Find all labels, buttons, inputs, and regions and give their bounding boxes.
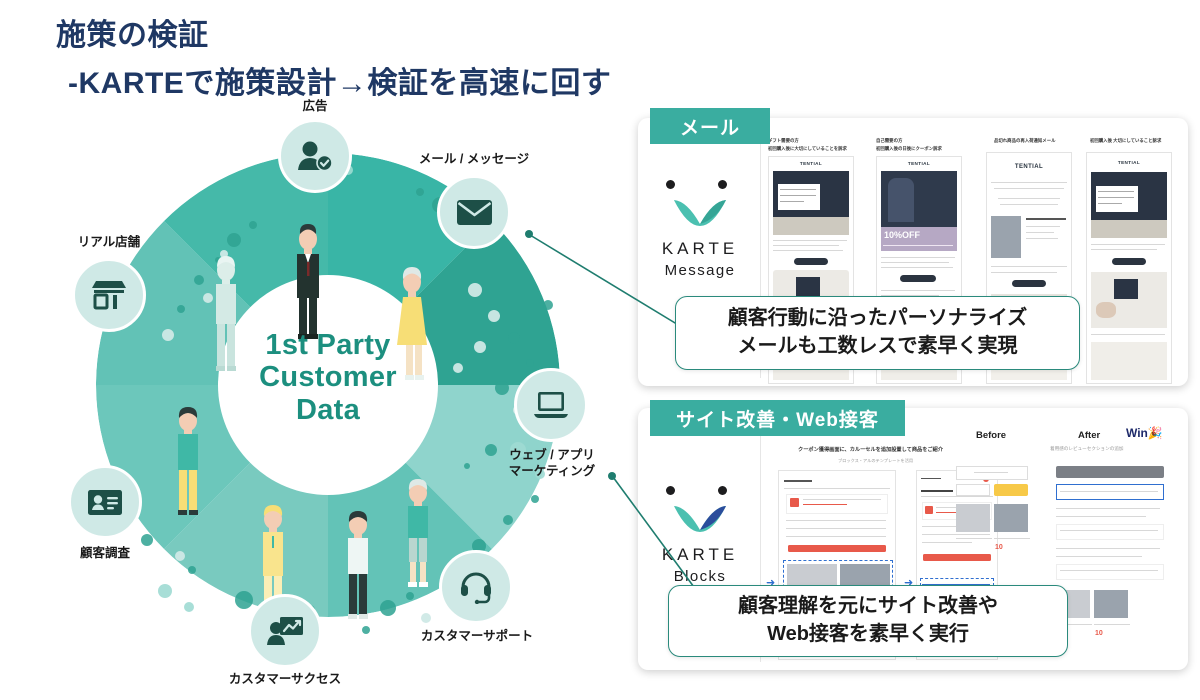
- mail-card-1-overlay: [778, 184, 820, 210]
- mail-card-2-brand: TENTIAL: [876, 161, 962, 166]
- win-badge: Win🎉: [1126, 426, 1163, 440]
- before-mock-cta[interactable]: [994, 484, 1028, 496]
- blocks-after-cta[interactable]: [923, 554, 991, 561]
- center-line-1: 1st Party: [213, 329, 443, 361]
- wheel-node-mail[interactable]: [437, 175, 511, 249]
- after-caption: 着用感のレビューセクションの追加: [1050, 446, 1124, 452]
- wheel-node-research[interactable]: [68, 465, 142, 539]
- wheel-label-research: 顧客調査: [68, 546, 142, 562]
- blocks-before-cta[interactable]: [788, 545, 886, 552]
- user-check-icon: [297, 140, 333, 172]
- karte-smile-icon: [672, 196, 728, 226]
- mail-card-1-caption-2: 初回購入後に大切にしていることを訴求: [768, 146, 847, 153]
- mail-card-3-cta[interactable]: [1012, 280, 1046, 287]
- after-mock-header: [1056, 466, 1164, 478]
- blocks-caption: クーポン獲得画面に、カルーセルを追加設置して商品をご紹介: [798, 446, 943, 453]
- id-card-icon: [87, 489, 123, 516]
- envelope-icon: [456, 199, 493, 226]
- storefront-icon: [91, 280, 127, 310]
- callout-blocks: 顧客理解を元にサイト改善や Web接客を素早く実行: [668, 585, 1068, 657]
- after-label: After: [1078, 430, 1100, 441]
- wheel-center-text: 1st Party Customer Data: [213, 329, 443, 426]
- wheel-node-web[interactable]: [514, 368, 588, 442]
- mail-card-4-cta[interactable]: [1112, 258, 1146, 265]
- mail-card-3-product-img: [991, 216, 1021, 258]
- callout-blocks-text: 顧客理解を元にサイト改善や Web接客を素早く実行: [738, 593, 998, 648]
- laptop-icon: [533, 390, 569, 420]
- page-title: 施策の検証: [56, 10, 209, 54]
- wheel-node-success[interactable]: [248, 594, 322, 668]
- wheel-label-ad: 広告: [278, 99, 352, 115]
- first-party-data-wheel: 1st Party Customer Data 広告 メール / メッセージ: [48, 110, 648, 690]
- wheel-label-mail: メール / メッセージ: [404, 152, 544, 168]
- mail-card-1-brand: TENTIAL: [768, 161, 854, 166]
- leader-line-mail: [520, 225, 700, 345]
- mail-card-2-offer: 10%OFF: [884, 231, 920, 240]
- callout-mail-text: 顧客行動に沿ったパーソナライズ メールも工数レスで素早く実現: [728, 305, 1027, 360]
- wheel-label-store: リアル店舗: [66, 235, 152, 251]
- before-label: Before: [976, 430, 1006, 441]
- center-line-3: Data: [213, 394, 443, 426]
- win-label: Win: [1126, 426, 1148, 440]
- mail-card-1-cta[interactable]: [794, 258, 828, 265]
- mail-card-2-caption-1: 自己需要の方: [876, 138, 902, 145]
- wheel-label-success: カスタマーサクセス: [212, 672, 358, 688]
- before-price: 10: [995, 544, 1003, 551]
- presentation-user-icon: [267, 616, 304, 646]
- mail-card-3-brand: TENTIAL: [986, 164, 1072, 170]
- page-subtitle: -KARTEで施策設計→検証を高速に回す: [68, 58, 611, 102]
- callout-mail: 顧客行動に沿ったパーソナライズ メールも工数レスで素早く実現: [675, 296, 1080, 370]
- karte-eyes-icon: [640, 180, 760, 192]
- headset-icon: [459, 571, 493, 604]
- wheel-node-ad[interactable]: [278, 119, 352, 193]
- slide-canvas: 施策の検証 -KARTEで施策設計→検証を高速に回す: [0, 0, 1200, 700]
- mail-card-4-caption-1: 初回購入後 大切にしていること訴求: [1090, 138, 1161, 145]
- wheel-node-store[interactable]: [72, 258, 146, 332]
- mail-card-1-caption-1: ギフト需要の方: [768, 138, 799, 145]
- center-line-2: Customer: [213, 361, 443, 393]
- party-popper-icon: 🎉: [1148, 426, 1163, 440]
- mail-card-1-photo-2: [773, 217, 849, 235]
- wheel-label-support: カスタマーサポート: [406, 629, 548, 645]
- mail-card-2-cta[interactable]: [900, 275, 936, 282]
- panel-mail-tab[interactable]: メール: [650, 108, 770, 144]
- mail-card-3-caption-1: 品切れ商品の再入荷通知メール: [994, 138, 1055, 145]
- mail-card-4-brand: TENTIAL: [1086, 160, 1172, 165]
- mail-card-2-caption-2: 初回購入後の日後にクーポン訴求: [876, 146, 942, 153]
- wheel-label-web: ウェブ / アプリ マーケティング: [494, 448, 610, 479]
- panel-blocks-tab[interactable]: サイト改善・Web接客: [650, 400, 905, 436]
- blocks-sub-caption: ブロックス・アルのテンプレートを活用: [838, 458, 913, 464]
- wheel-node-support[interactable]: [439, 550, 513, 624]
- after-price: 10: [1095, 630, 1103, 637]
